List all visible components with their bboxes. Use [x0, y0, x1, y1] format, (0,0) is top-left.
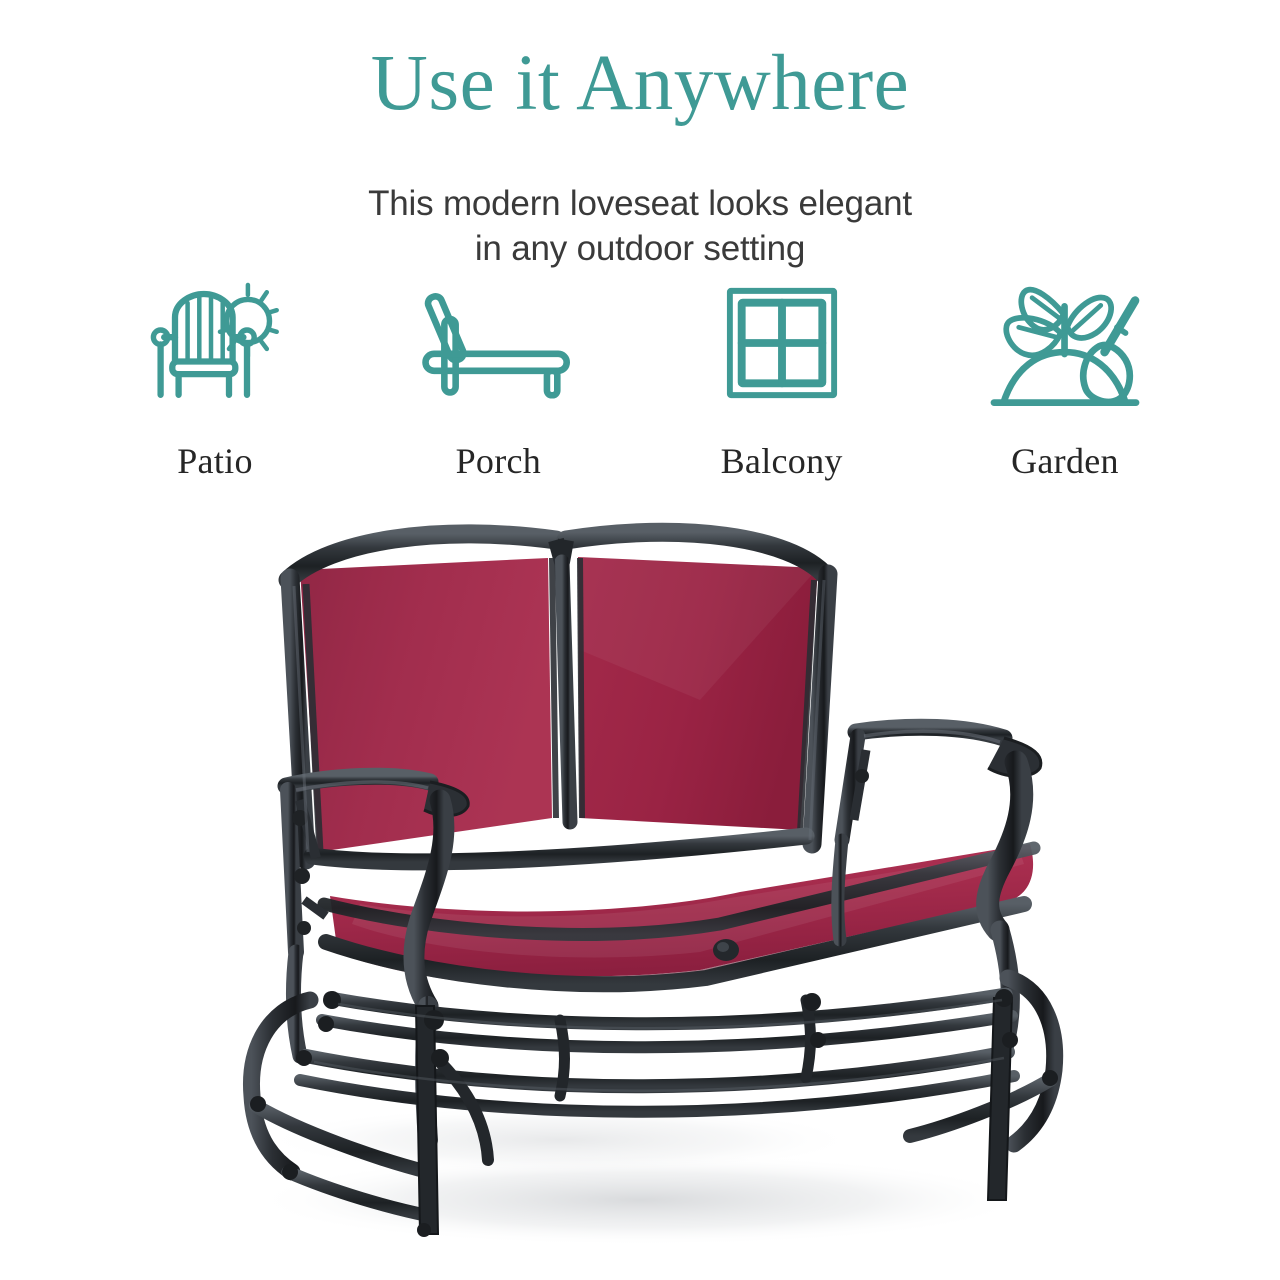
- feature-label-balcony: Balcony: [721, 440, 843, 482]
- product-image-glider-loveseat: [0, 500, 1280, 1280]
- feature-label-garden: Garden: [1011, 440, 1119, 482]
- feature-icon-row: Patio Porch: [90, 268, 1190, 498]
- page-subtitle: This modern loveseat looks elegant in an…: [0, 182, 1280, 272]
- page-title: Use it Anywhere: [0, 44, 1280, 123]
- feature-label-porch: Porch: [456, 440, 542, 482]
- feature-label-patio: Patio: [177, 440, 253, 482]
- feature-item-patio: Patio: [90, 268, 340, 482]
- window-four-pane-icon: [657, 268, 907, 418]
- product-marketing-image: Use it Anywhere This modern loveseat loo…: [0, 0, 1280, 1280]
- adirondack-chair-sun-icon: [90, 268, 340, 418]
- feature-item-balcony: Balcony: [657, 268, 907, 482]
- feature-item-garden: Garden: [940, 268, 1190, 482]
- feature-item-porch: Porch: [373, 268, 623, 482]
- subtitle-line-1: This modern loveseat looks elegant: [0, 182, 1280, 227]
- plant-shovel-icon: [940, 268, 1190, 418]
- subtitle-line-2: in any outdoor setting: [0, 227, 1280, 272]
- chaise-lounge-icon: [373, 268, 623, 418]
